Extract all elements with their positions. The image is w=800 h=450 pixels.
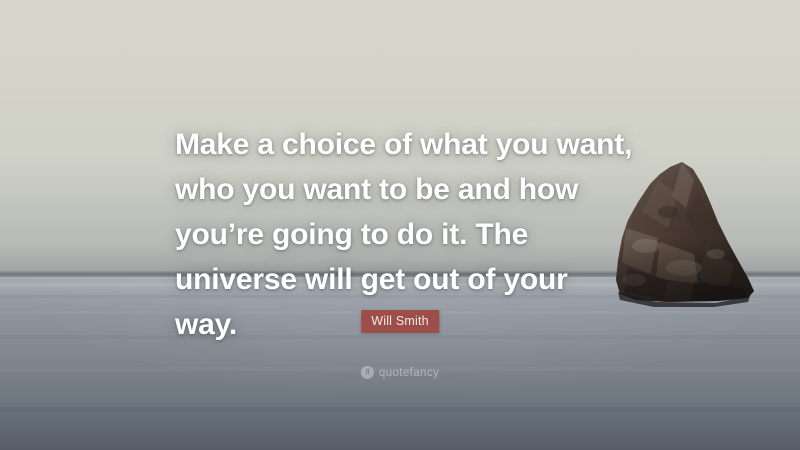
quote-poster: Make a choice of what you want, who you …	[0, 0, 800, 450]
quotefancy-logo-icon: ff	[361, 366, 374, 379]
watermark-brand-label: quotefancy	[379, 367, 439, 379]
author-name-badge: Will Smith	[361, 310, 439, 333]
watermark[interactable]: ff quotefancy	[361, 366, 439, 379]
